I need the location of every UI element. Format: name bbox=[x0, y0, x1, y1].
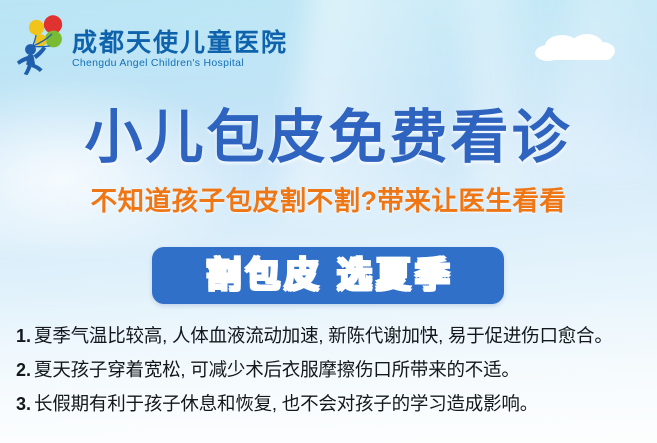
list-item: 1. 夏季气温比较高, 人体血液流动加速, 新陈代谢加快, 易于促进伤口愈合。 bbox=[16, 327, 646, 361]
list-item-number: 3. bbox=[16, 395, 31, 413]
hospital-wordmark: 成都天使儿童医院 Chengdu Angel Children's Hospit… bbox=[72, 30, 288, 75]
list-item-number: 1. bbox=[16, 327, 31, 345]
cloud-icon bbox=[530, 30, 620, 64]
list-item-text: 夏季气温比较高, 人体血液流动加速, 新陈代谢加快, 易于促进伤口愈合。 bbox=[34, 327, 613, 346]
slogan-badge-label: 割包皮 选夏季 bbox=[202, 258, 454, 293]
page-subtitle: 不知道孩子包皮割不割?带来让医生看看 bbox=[0, 186, 657, 216]
list-item: 3. 长假期有利于孩子休息和恢复, 也不会对孩子的学习造成影响。 bbox=[16, 395, 646, 429]
list-item-number: 2. bbox=[16, 361, 31, 379]
list-item-text: 夏天孩子穿着宽松, 可减少术后衣服摩擦伤口所带来的不适。 bbox=[34, 361, 520, 380]
hospital-name-en: Chengdu Angel Children's Hospital bbox=[72, 57, 288, 71]
child-with-balloons-icon bbox=[12, 13, 68, 75]
slogan-badge: 割包皮 选夏季 bbox=[152, 247, 504, 304]
page-title: 小儿包皮免费看诊 bbox=[0, 108, 657, 169]
hospital-logo-block: 成都天使儿童医院 Chengdu Angel Children's Hospit… bbox=[12, 9, 288, 75]
reasons-list: 1. 夏季气温比较高, 人体血液流动加速, 新陈代谢加快, 易于促进伤口愈合。 … bbox=[16, 327, 646, 429]
promo-poster: 成都天使儿童医院 Chengdu Angel Children's Hospit… bbox=[0, 0, 657, 443]
hospital-name-cn: 成都天使儿童医院 bbox=[72, 30, 288, 56]
list-item: 2. 夏天孩子穿着宽松, 可减少术后衣服摩擦伤口所带来的不适。 bbox=[16, 361, 646, 395]
list-item-text: 长假期有利于孩子休息和恢复, 也不会对孩子的学习造成影响。 bbox=[34, 395, 538, 414]
light-ray-decoration bbox=[458, 0, 572, 204]
